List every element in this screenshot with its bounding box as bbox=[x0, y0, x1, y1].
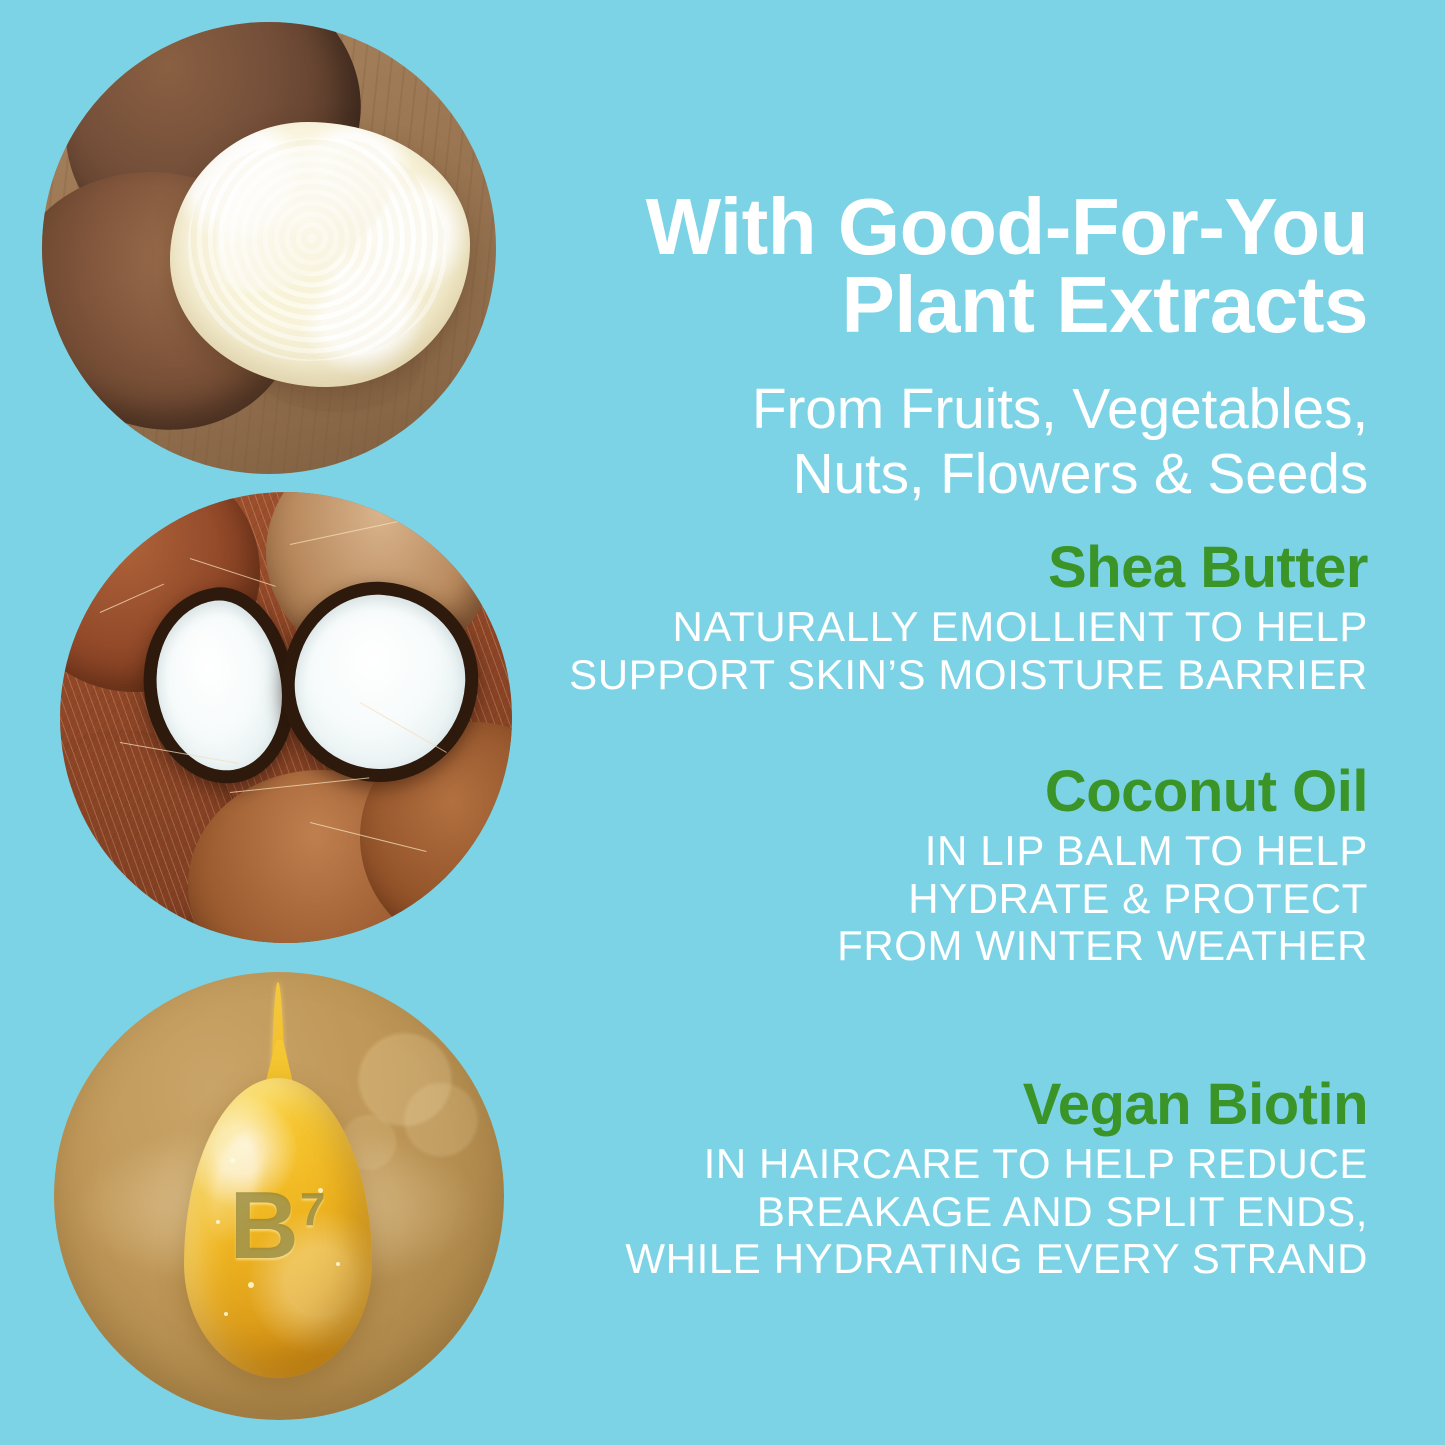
headline-line-1: With Good-For-You bbox=[530, 188, 1368, 266]
coconut-flesh-right bbox=[289, 589, 471, 774]
desc-line: IN LIP BALM TO HELP bbox=[530, 827, 1368, 874]
ingredient-block-shea-butter: Shea Butter NATURALLY EMOLLIENT TO HELP … bbox=[530, 538, 1368, 698]
subheadline-line-2: Nuts, Flowers & Seeds bbox=[530, 442, 1368, 507]
droplet-sparkle bbox=[224, 1312, 228, 1316]
coconut-photo bbox=[60, 492, 512, 943]
oil-droplet: B7 bbox=[178, 982, 378, 1402]
droplet-sparkle bbox=[248, 1282, 254, 1288]
page-title: With Good-For-You Plant Extracts bbox=[530, 188, 1368, 345]
shea-butter-photo bbox=[42, 22, 496, 474]
vitamin-number: 7 bbox=[300, 1183, 327, 1235]
page-subtitle: From Fruits, Vegetables, Nuts, Flowers &… bbox=[530, 377, 1368, 507]
biotin-droplet-photo: B7 bbox=[54, 972, 504, 1420]
desc-line: IN HAIRCARE TO HELP REDUCE bbox=[530, 1140, 1368, 1187]
desc-line: SUPPORT SKIN’S MOISTURE BARRIER bbox=[530, 651, 1368, 698]
copy-column: With Good-For-You Plant Extracts From Fr… bbox=[530, 0, 1368, 1445]
desc-line: BREAKAGE AND SPLIT ENDS, bbox=[530, 1188, 1368, 1235]
headline-line-2: Plant Extracts bbox=[530, 266, 1368, 344]
desc-line: WHILE HYDRATING EVERY STRAND bbox=[530, 1235, 1368, 1282]
ingredient-name-coconut-oil: Coconut Oil bbox=[530, 762, 1368, 821]
desc-line: HYDRATE & PROTECT bbox=[530, 875, 1368, 922]
subheadline-line-1: From Fruits, Vegetables, bbox=[530, 377, 1368, 442]
vitamin-b7-label: B7 bbox=[178, 1178, 378, 1274]
infographic-page: B7 With Good-For-You Plant Extracts From… bbox=[0, 0, 1445, 1445]
ingredient-name-vegan-biotin: Vegan Biotin bbox=[530, 1075, 1368, 1134]
desc-line: NATURALLY EMOLLIENT TO HELP bbox=[530, 603, 1368, 650]
desc-line: FROM WINTER WEATHER bbox=[530, 922, 1368, 969]
ingredient-description-coconut-oil: IN LIP BALM TO HELP HYDRATE & PROTECT FR… bbox=[530, 827, 1368, 969]
ingredient-block-coconut-oil: Coconut Oil IN LIP BALM TO HELP HYDRATE … bbox=[530, 762, 1368, 970]
ingredient-description-shea-butter: NATURALLY EMOLLIENT TO HELP SUPPORT SKIN… bbox=[530, 603, 1368, 698]
ingredient-block-vegan-biotin: Vegan Biotin IN HAIRCARE TO HELP REDUCE … bbox=[530, 1075, 1368, 1283]
ingredient-name-shea-butter: Shea Butter bbox=[530, 538, 1368, 597]
droplet-sparkle bbox=[230, 1158, 235, 1163]
ingredient-description-vegan-biotin: IN HAIRCARE TO HELP REDUCE BREAKAGE AND … bbox=[530, 1140, 1368, 1282]
vitamin-letter: B bbox=[230, 1172, 300, 1279]
